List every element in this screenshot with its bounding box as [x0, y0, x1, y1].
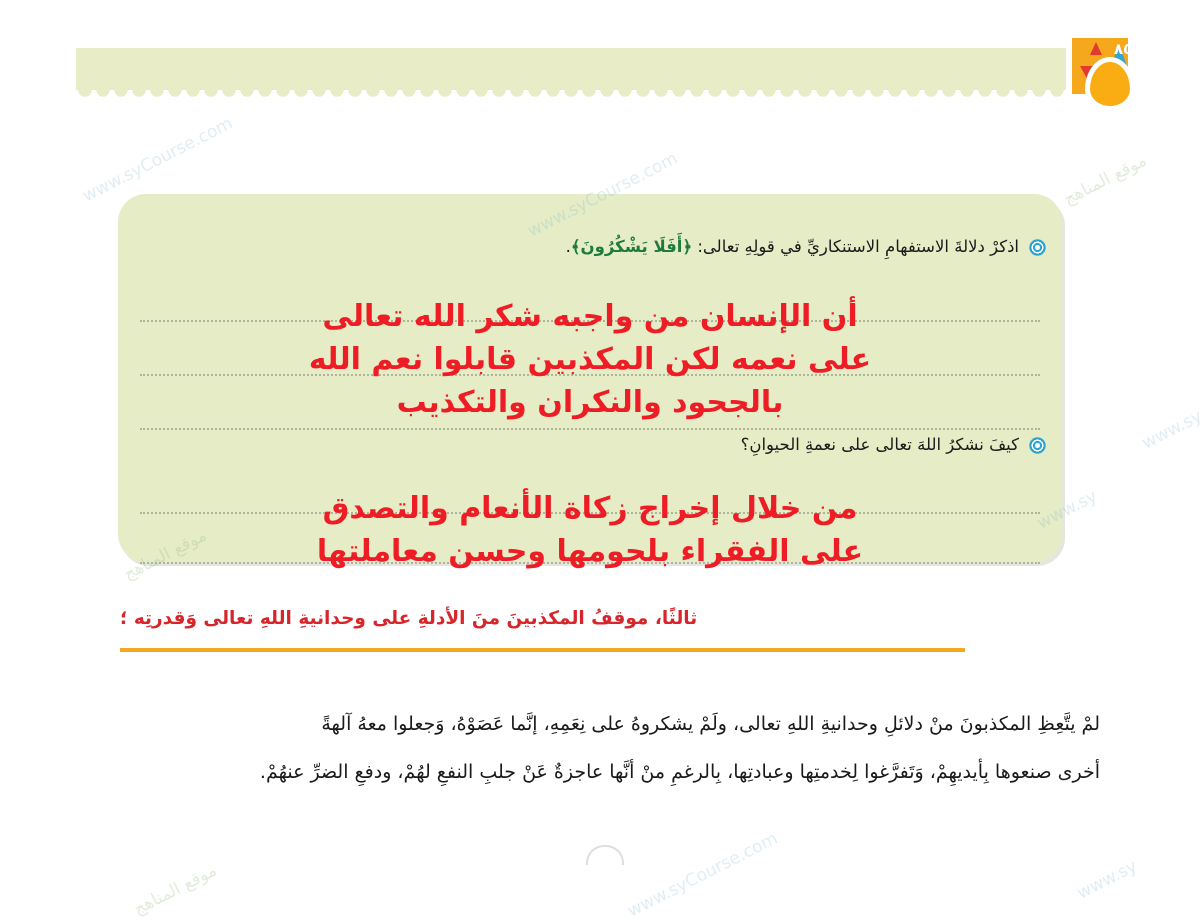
pencil-arc-mark	[586, 845, 624, 865]
header-ornament: ٨٥	[1064, 34, 1142, 108]
question-1-text: اذكرْ دلالةَ الاستفهامِ الاستنكاريِّ في …	[566, 236, 1019, 258]
watermark: www.sy	[1074, 856, 1141, 903]
watermark: موقع المناهج	[1060, 151, 1150, 210]
question-1-prefix: اذكرْ دلالةَ الاستفهامِ الاستنكاريِّ في …	[692, 237, 1019, 256]
answer-2-line-2: على الفقراء بلحومها وحسن معاملتها	[118, 531, 1062, 574]
question-2-text: كيفَ نشكرُ اللهَ تعالى على نعمةِ الحيوان…	[741, 434, 1019, 456]
activity-card: اذكرْ دلالةَ الاستفهامِ الاستنكاريِّ في …	[118, 194, 1062, 562]
section-body-text: لمْ يتَّعِظِ المكذبونَ منْ دلائلِ وحداني…	[100, 700, 1100, 797]
document-page: ٨٥ اذكرْ دلالةَ الاستفهامِ الاستنكاريِّ …	[0, 0, 1200, 900]
question-row-2: كيفَ نشكرُ اللهَ تعالى على نعمةِ الحيوان…	[741, 434, 1046, 456]
question-row-1: اذكرْ دلالةَ الاستفهامِ الاستنكاريِّ في …	[566, 236, 1046, 258]
body-line-2: أخرى صنعوها بِأيديهِمْ، وَتَفرَّغوا لِخد…	[100, 748, 1100, 796]
header-scallop-edge	[76, 90, 1066, 103]
ornament-red-triangle-top	[1090, 42, 1102, 55]
spiral-bullet-icon	[1029, 437, 1046, 454]
watermark: موقع المناهج	[130, 861, 220, 920]
header-band	[76, 48, 1066, 90]
section-heading: ثالثًا، موقفُ المكذبينَ منَ الأدلةِ على …	[120, 608, 965, 629]
question-1-ayah: ﴿أَفَلَا يَشْكُرُونَ﴾	[571, 237, 692, 256]
watermark: www.sy	[1139, 406, 1200, 453]
writing-guide-line	[140, 428, 1040, 430]
body-line-1: لمْ يتَّعِظِ المكذبونَ منْ دلائلِ وحداني…	[100, 700, 1100, 748]
spiral-bullet-icon	[1029, 239, 1046, 256]
page-number: ٨٥	[1110, 40, 1136, 58]
watermark: www.syCourse.com	[624, 829, 781, 922]
answer-1-line-1: أن الإنسان من واجبه شكر الله تعالى	[118, 296, 1062, 339]
answer-2-line-1: من خلال إخراج زكاة الأنعام والتصدق	[118, 488, 1062, 531]
answer-1-line-3: بالجحود والنكران والتكذيب	[118, 382, 1062, 425]
watermark: www.syCourse.com	[79, 114, 236, 207]
section-heading-underline	[120, 648, 965, 652]
answer-1-line-2: على نعمه لكن المكذبين قابلوا نعم الله	[118, 339, 1062, 382]
